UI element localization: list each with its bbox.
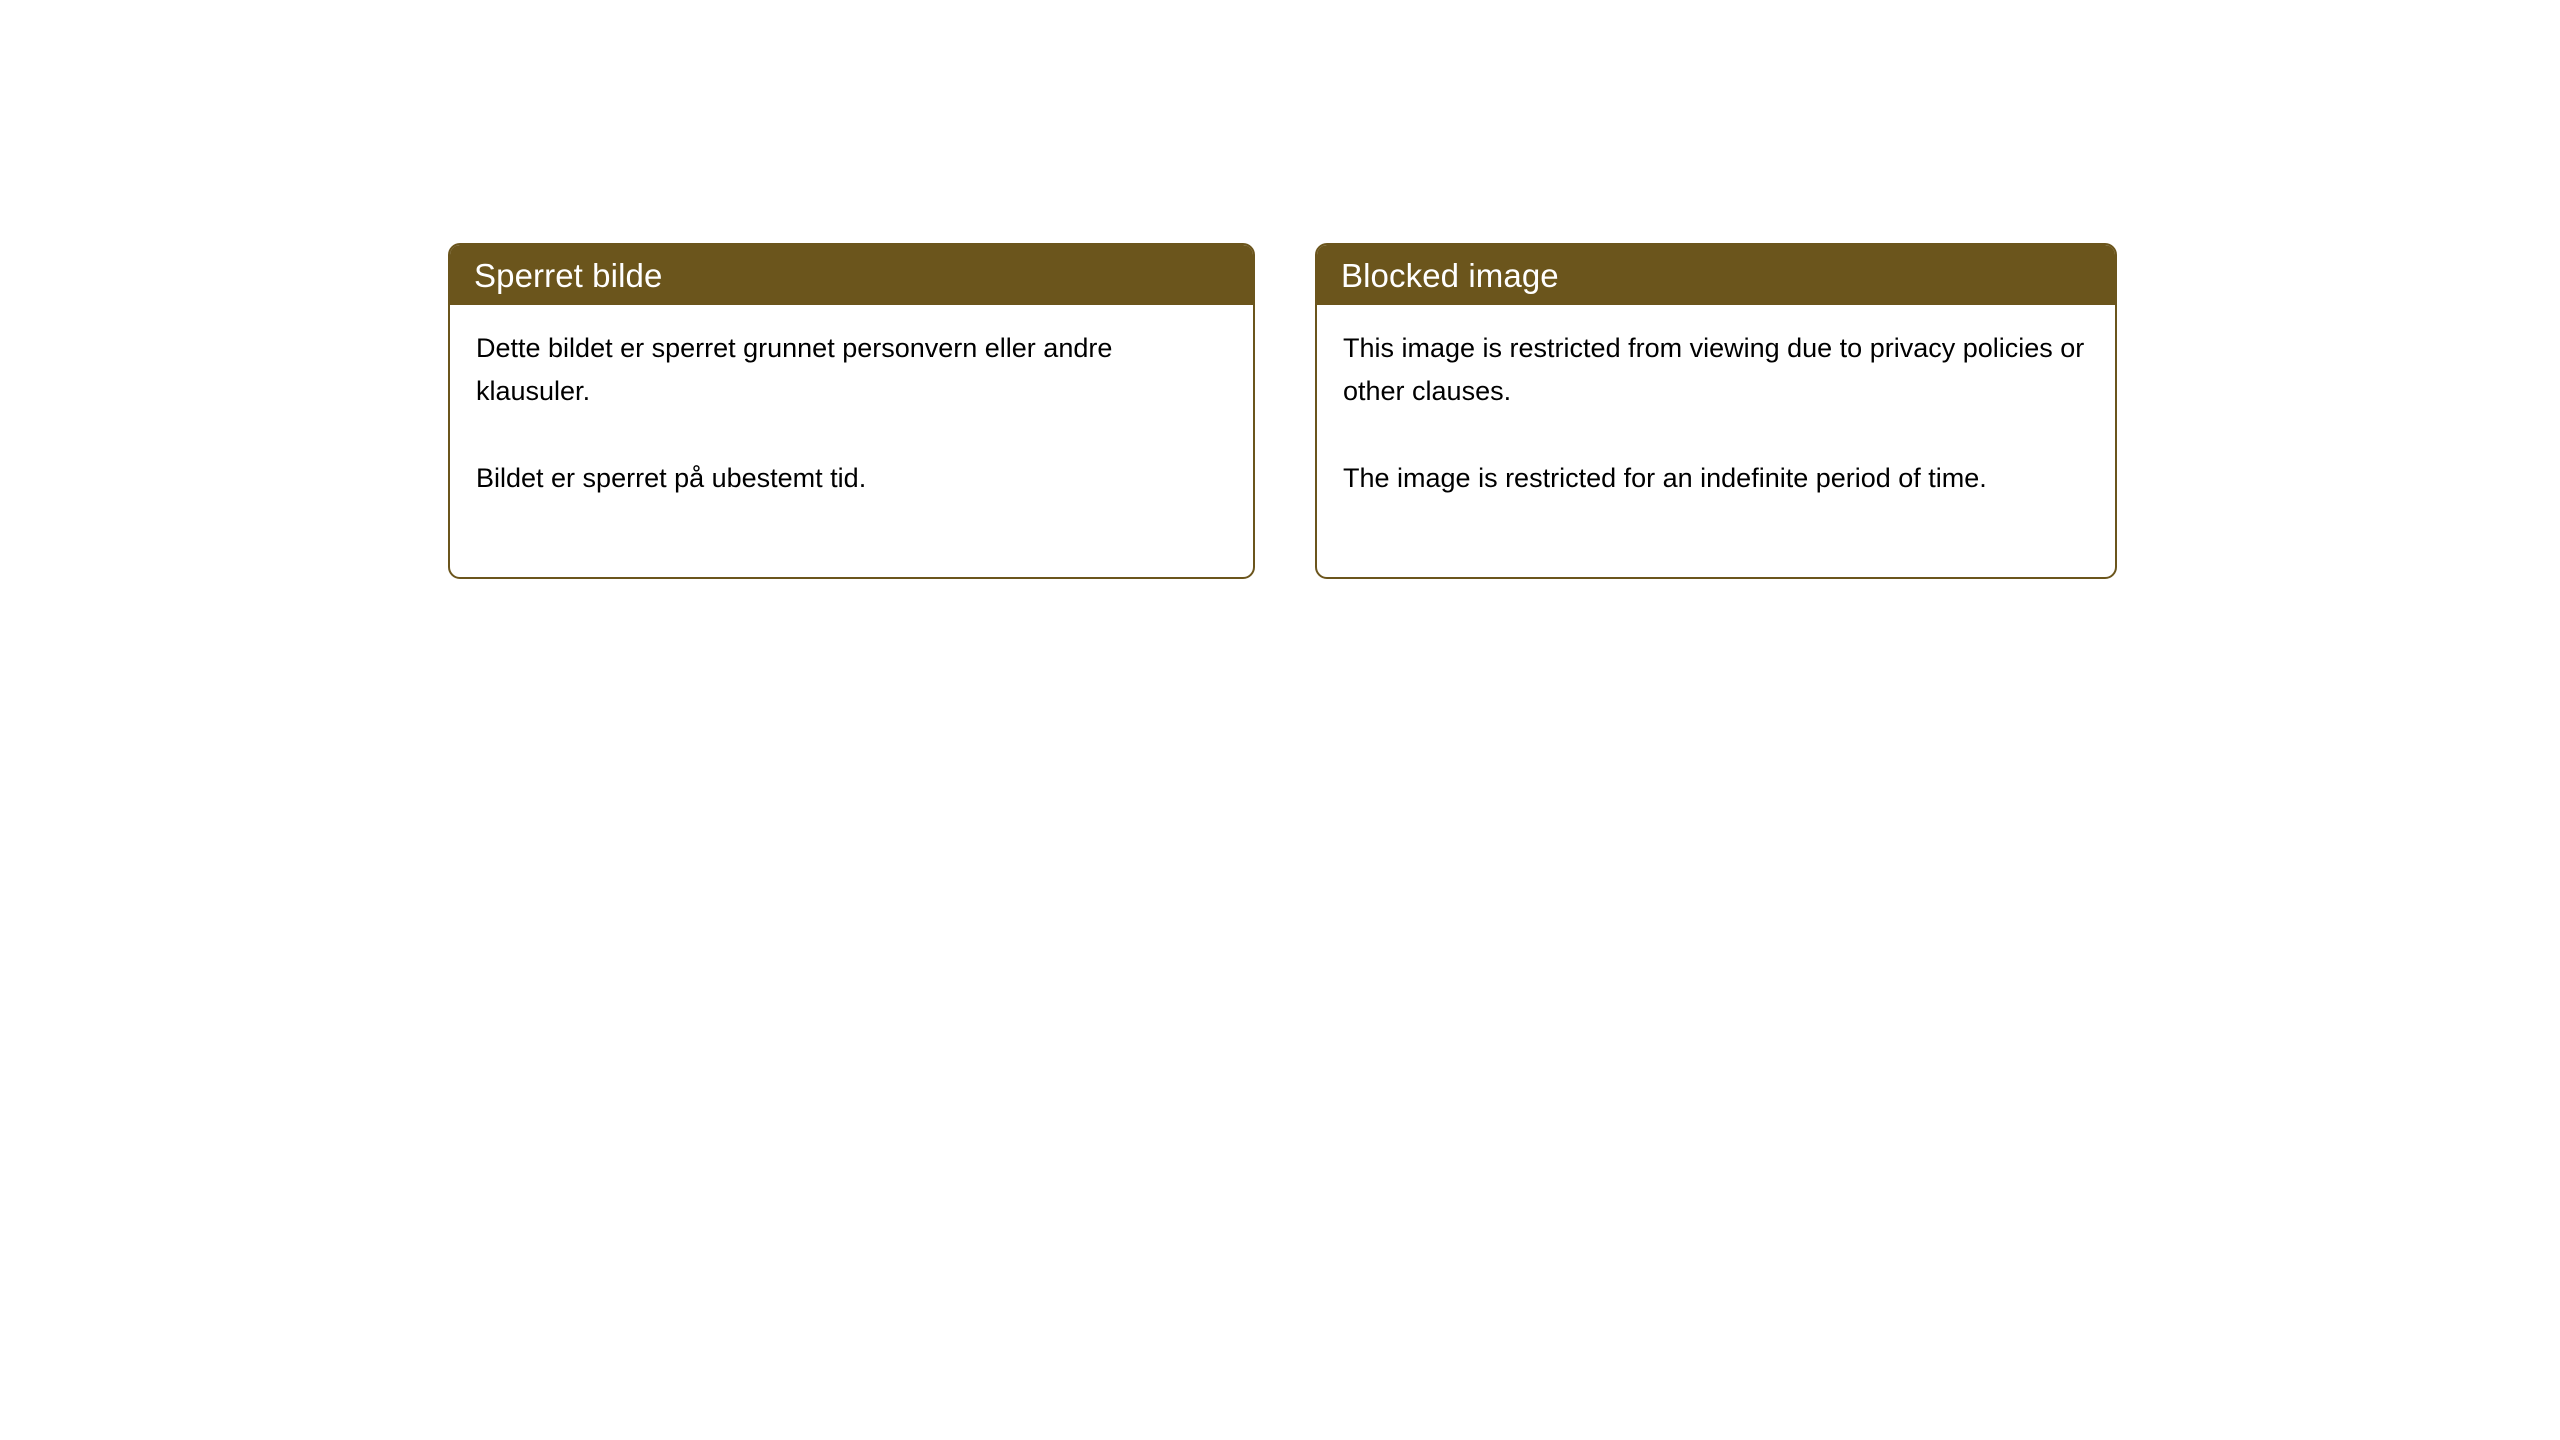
card-body-english: This image is restricted from viewing du… [1317,305,2115,577]
card-paragraph-reason-english: This image is restricted from viewing du… [1343,327,2089,413]
card-paragraph-duration-norwegian: Bildet er sperret på ubestemt tid. [476,457,1227,500]
card-header-english: Blocked image [1317,245,2115,305]
page-root: Sperret bilde Dette bildet er sperret gr… [0,0,2560,1440]
card-body-norwegian: Dette bildet er sperret grunnet personve… [450,305,1253,577]
card-title-norwegian: Sperret bilde [474,259,662,292]
blocked-image-card-english: Blocked image This image is restricted f… [1315,243,2117,579]
card-title-english: Blocked image [1341,259,1559,292]
blocked-image-notice-group: Sperret bilde Dette bildet er sperret gr… [448,243,2117,579]
card-header-norwegian: Sperret bilde [450,245,1253,305]
blocked-image-card-norwegian: Sperret bilde Dette bildet er sperret gr… [448,243,1255,579]
card-paragraph-reason-norwegian: Dette bildet er sperret grunnet personve… [476,327,1227,413]
card-paragraph-duration-english: The image is restricted for an indefinit… [1343,457,2089,500]
